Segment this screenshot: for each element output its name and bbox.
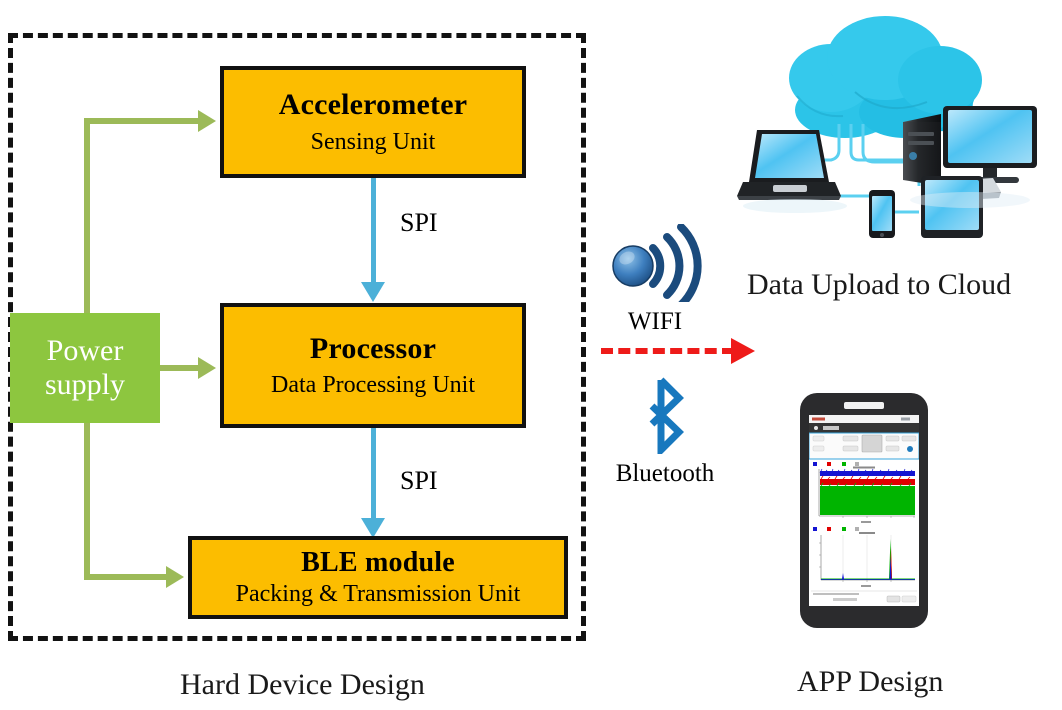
tablet-device[interactable]	[800, 393, 928, 628]
processor-block[interactable]: Processor Data Processing Unit	[220, 303, 526, 428]
spi-label-top: SPI	[400, 208, 438, 238]
accelerometer-subtitle: Sensing Unit	[311, 130, 436, 155]
spi-line-bottom	[371, 428, 376, 518]
tablet-speaker	[844, 402, 884, 409]
desktop-monitor-icon	[943, 106, 1037, 183]
tablet-screen[interactable]	[809, 415, 919, 606]
accelerometer-title: Accelerometer	[279, 89, 468, 121]
power-branch-accelerometer	[84, 118, 200, 124]
data-upload-to-cloud-caption: Data Upload to Cloud	[747, 268, 1011, 302]
wifi-icon-group: WIFI	[602, 224, 708, 336]
bluetooth-icon	[634, 376, 696, 454]
power-arrow-accelerometer	[198, 110, 216, 132]
wifi-icon	[605, 224, 705, 302]
power-branch-ble	[84, 574, 168, 580]
spi-line-top	[371, 178, 376, 282]
power-supply-block[interactable]: Power supply	[10, 313, 160, 423]
laptop-icon	[737, 130, 841, 200]
spi-arrow-top	[361, 282, 385, 302]
ble-module-title: BLE module	[301, 548, 455, 577]
power-supply-label-line1: Power	[47, 334, 124, 368]
ble-module-subtitle: Packing & Transmission Unit	[236, 582, 521, 607]
power-branch-processor	[160, 365, 200, 371]
app-screenshot	[809, 415, 919, 606]
power-arrow-ble	[166, 566, 184, 588]
transmission-arrow-line	[601, 348, 734, 354]
bluetooth-icon-group: Bluetooth	[601, 376, 729, 488]
ble-module-block[interactable]: BLE module Packing & Transmission Unit	[188, 536, 568, 619]
processor-subtitle: Data Processing Unit	[271, 373, 475, 398]
accelerometer-block[interactable]: Accelerometer Sensing Unit	[220, 66, 526, 178]
hard-device-design-caption: Hard Device Design	[180, 668, 425, 702]
processor-title: Processor	[310, 333, 436, 365]
spi-arrow-bottom	[361, 518, 385, 538]
smartphone-icon	[869, 190, 895, 238]
transmission-arrow-head	[731, 338, 755, 364]
wifi-label: WIFI	[602, 308, 708, 336]
cloud-network-illustration	[735, 0, 1055, 245]
computer-tower-icon	[903, 114, 941, 186]
app-design-caption: APP Design	[797, 665, 943, 699]
bluetooth-label: Bluetooth	[601, 460, 729, 488]
power-arrow-processor	[198, 357, 216, 379]
power-supply-label-line2: supply	[45, 368, 125, 402]
spi-label-bottom: SPI	[400, 466, 438, 496]
diagram-canvas: Power supply Accelerometer Sensing Unit …	[0, 0, 1062, 710]
